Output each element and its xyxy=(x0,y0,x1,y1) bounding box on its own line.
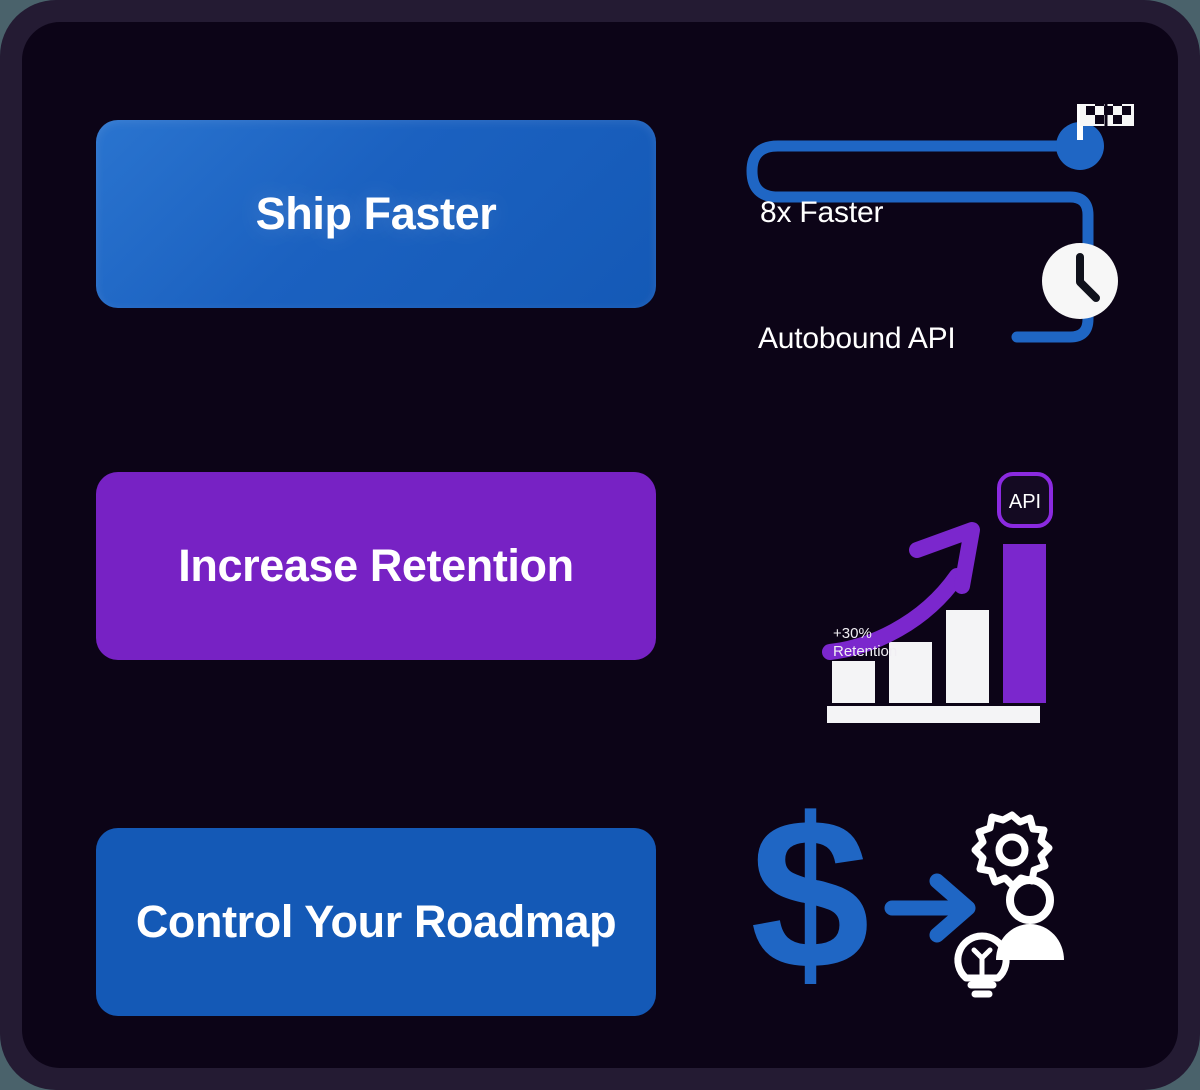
cost-savings-illustration: $ xyxy=(682,788,1152,1048)
speed-multiplier-label: 8x Faster xyxy=(760,196,883,230)
row-ship-faster: Ship Faster xyxy=(22,104,1178,364)
speed-path-illustration: 8x Faster Autobound API xyxy=(682,104,1152,364)
speed-path-line xyxy=(752,146,1088,337)
checkered-flag-icon xyxy=(1080,104,1134,126)
outer-card: Ship Faster xyxy=(0,0,1200,1090)
dollar-sign-icon: $ xyxy=(750,788,870,1014)
cost-savings-svg: $ xyxy=(682,788,1152,1048)
button-control-your-roadmap[interactable]: Control Your Roadmap xyxy=(96,828,656,1016)
button-increase-retention[interactable]: Increase Retention xyxy=(96,472,656,660)
chart-bar-3 xyxy=(946,610,989,703)
gear-icon xyxy=(975,815,1049,886)
svg-text:$: $ xyxy=(750,788,870,1014)
retention-word-label: Retention xyxy=(833,643,897,660)
button-control-your-roadmap-label: Control Your Roadmap xyxy=(136,896,616,948)
content-panel: Ship Faster xyxy=(22,22,1178,1068)
chart-bar-1 xyxy=(832,661,875,703)
api-badge-icon: API xyxy=(999,474,1051,526)
lightbulb-icon xyxy=(958,936,1006,994)
arrow-right-icon xyxy=(892,881,968,935)
row-control-your-roadmap: Control Your Roadmap $ xyxy=(22,788,1178,1048)
chart-baseline xyxy=(827,706,1040,723)
api-badge-label: API xyxy=(1009,491,1041,513)
retention-bar-chart-illustration: API +30% Retention xyxy=(682,458,1152,718)
button-ship-faster[interactable]: Ship Faster xyxy=(96,120,656,308)
chart-bar-api xyxy=(1003,544,1046,703)
retention-delta-label: +30% xyxy=(833,625,872,642)
button-ship-faster-label: Ship Faster xyxy=(256,188,497,240)
row-increase-retention: Increase Retention xyxy=(22,458,1178,718)
clock-icon xyxy=(1042,243,1118,319)
api-source-label: Autobound API xyxy=(758,322,956,356)
button-increase-retention-label: Increase Retention xyxy=(178,540,573,592)
retention-chart-svg: API +30% Retention xyxy=(682,458,1152,758)
